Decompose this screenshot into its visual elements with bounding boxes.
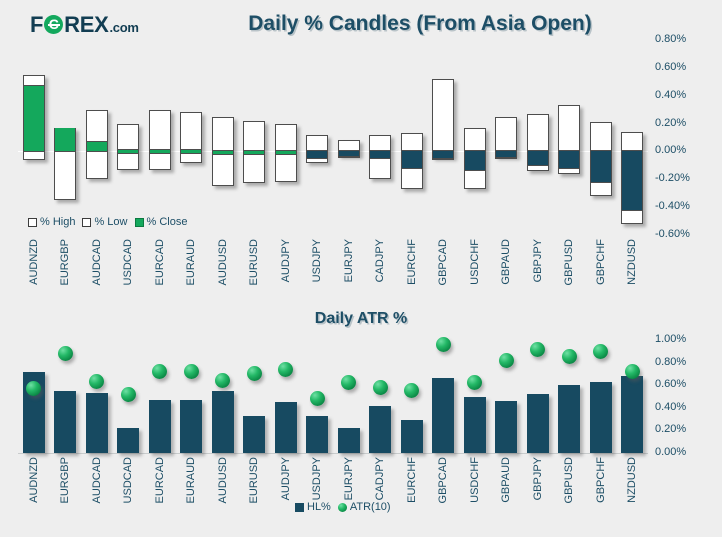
atr-10-marker[interactable]: [436, 337, 451, 352]
atr-10-marker[interactable]: [121, 387, 136, 402]
legend-item[interactable]: % Close: [135, 216, 188, 228]
candle-bar[interactable]: [149, 110, 171, 170]
legend-item[interactable]: ATR(10): [338, 501, 391, 513]
legend-label: ATR(10): [350, 501, 391, 513]
y-tick-label: 0.00%: [655, 144, 686, 156]
atr-hl-bar[interactable]: [527, 394, 549, 453]
x-tick-label: EURAUD: [185, 457, 197, 503]
x-tick-label: CADJPY: [374, 457, 386, 500]
x-tick-label: AUDJPY: [280, 457, 292, 500]
atr-legend: HL%ATR(10): [295, 501, 391, 513]
candle-high-segment: [621, 132, 643, 152]
x-tick-label: USDJPY: [311, 239, 323, 282]
zero-line: [18, 151, 648, 152]
x-tick-label: USDCHF: [469, 239, 481, 285]
y-tick-label: 0.20%: [655, 423, 686, 435]
candle-bar[interactable]: [306, 135, 328, 163]
x-tick-label: GBPUSD: [563, 239, 575, 285]
x-tick-label: NZDUSD: [626, 239, 638, 285]
candle-bar[interactable]: [243, 121, 265, 184]
x-tick-label: AUDNZD: [28, 239, 40, 285]
atr-plot-area: [18, 340, 648, 453]
legend-item[interactable]: HL%: [295, 501, 331, 513]
x-tick-label: GBPJPY: [532, 239, 544, 282]
candle-bar[interactable]: [369, 135, 391, 180]
atr-hl-bar[interactable]: [212, 391, 234, 453]
page-title: Daily % Candles (From Asia Open): [205, 12, 635, 36]
y-tick-label: -0.20%: [655, 172, 690, 184]
candle-low-segment: [369, 158, 391, 179]
candle-high-segment: [464, 128, 486, 152]
legend-label: % Close: [147, 216, 188, 228]
candle-high-segment: [590, 122, 612, 151]
x-tick-label: AUDJPY: [280, 239, 292, 282]
atr-10-marker[interactable]: [184, 364, 199, 379]
candle-close-segment: [369, 151, 391, 158]
atr-hl-bar[interactable]: [86, 393, 108, 453]
candle-bar[interactable]: [527, 114, 549, 171]
candle-high-segment: [243, 121, 265, 152]
x-tick-label: GBPCHF: [595, 239, 607, 285]
x-tick-label: USDJPY: [311, 457, 323, 500]
candle-low-segment: [306, 158, 328, 162]
page-header: F REX .com Daily % Candles (From Asia Op…: [0, 0, 722, 44]
candles-legend: % High% Low% Close: [28, 216, 187, 228]
forex-com-logo: F REX .com: [30, 12, 139, 38]
candle-close-segment: [527, 151, 549, 165]
candle-bar[interactable]: [275, 124, 297, 183]
candles-x-axis: AUDNZDEURGBPAUDCADUSDCADEURCADEURAUDAUDU…: [18, 236, 648, 304]
candle-low-segment: [243, 154, 265, 183]
atr-10-marker[interactable]: [562, 349, 577, 364]
candle-high-segment: [275, 124, 297, 152]
logo-text-prefix: F: [30, 12, 43, 38]
candle-close-segment: [590, 151, 612, 182]
candle-close-segment: [86, 142, 108, 152]
x-tick-label: GBPAUD: [500, 457, 512, 503]
candle-low-segment: [401, 168, 423, 189]
atr-hl-bar[interactable]: [432, 378, 454, 453]
candle-high-segment: [338, 140, 360, 151]
atr-10-marker[interactable]: [310, 391, 325, 406]
candle-low-segment: [275, 154, 297, 182]
x-tick-label: GBPJPY: [532, 457, 544, 500]
atr-hl-bar[interactable]: [495, 401, 517, 453]
y-tick-label: -0.40%: [655, 200, 690, 212]
x-tick-label: EURJPY: [343, 457, 355, 500]
candle-bar[interactable]: [464, 128, 486, 189]
x-tick-label: EURJPY: [343, 239, 355, 282]
candle-close-segment: [306, 151, 328, 158]
candle-high-segment: [117, 124, 139, 150]
y-tick-label: -0.60%: [655, 228, 690, 240]
legend-swatch-icon: [135, 218, 144, 227]
atr-chart-title: Daily ATR %: [0, 310, 722, 328]
candle-bar[interactable]: [495, 117, 517, 157]
y-tick-label: 0.60%: [655, 61, 686, 73]
x-tick-label: USDCHF: [469, 457, 481, 503]
atr-hl-bar[interactable]: [401, 420, 423, 453]
legend-item[interactable]: % Low: [82, 216, 127, 228]
candle-bar[interactable]: [432, 79, 454, 158]
candle-high-segment: [432, 79, 454, 151]
candle-low-segment: [621, 210, 643, 224]
x-tick-label: NZDUSD: [626, 457, 638, 503]
x-tick-label: GBPAUD: [500, 239, 512, 285]
x-tick-label: EURCHF: [406, 457, 418, 503]
candle-high-segment: [212, 117, 234, 152]
candle-low-segment: [495, 157, 517, 159]
candle-bar[interactable]: [338, 140, 360, 155]
x-tick-label: GBPUSD: [563, 457, 575, 503]
candle-bar[interactable]: [558, 105, 580, 173]
x-tick-label: AUDUSD: [217, 239, 229, 285]
y-tick-label: 0.80%: [655, 356, 686, 368]
x-tick-label: AUDUSD: [217, 457, 229, 503]
legend-swatch-icon: [82, 218, 91, 227]
atr-10-marker[interactable]: [373, 380, 388, 395]
candle-bar[interactable]: [23, 75, 45, 160]
candle-bar[interactable]: [54, 128, 76, 200]
atr-hl-bar[interactable]: [464, 397, 486, 454]
atr-hl-bar[interactable]: [117, 428, 139, 453]
candle-high-segment: [401, 133, 423, 151]
x-tick-label: EURGBP: [59, 457, 71, 503]
atr-hl-bar[interactable]: [149, 400, 171, 453]
legend-label: % Low: [94, 216, 127, 228]
atr-10-marker[interactable]: [341, 375, 356, 390]
x-tick-label: EURUSD: [248, 239, 260, 285]
atr-hl-bar[interactable]: [306, 416, 328, 453]
atr-10-marker[interactable]: [278, 362, 293, 377]
candle-high-segment: [306, 135, 328, 152]
logo-tld: .com: [109, 20, 138, 35]
legend-item[interactable]: % High: [28, 216, 75, 228]
atr-10-marker[interactable]: [404, 383, 419, 398]
daily-percent-candles-chart: 0.80%0.60%0.40%0.20%0.00%-0.20%-0.40%-0.…: [0, 40, 722, 305]
candle-low-segment: [117, 153, 139, 170]
legend-label: % High: [40, 216, 75, 228]
candle-high-segment: [180, 112, 202, 150]
x-tick-label: EURUSD: [248, 457, 260, 503]
y-tick-label: 0.80%: [655, 33, 686, 45]
atr-hl-bar[interactable]: [338, 428, 360, 453]
y-tick-label: 0.40%: [655, 89, 686, 101]
candle-low-segment: [86, 151, 108, 179]
x-tick-label: USDCAD: [122, 239, 134, 285]
candle-high-segment: [86, 110, 108, 142]
x-tick-label: USDCAD: [122, 457, 134, 503]
x-tick-label: EURCAD: [154, 457, 166, 503]
x-tick-label: EURAUD: [185, 239, 197, 285]
candle-close-segment: [54, 128, 76, 152]
atr-hl-bar[interactable]: [54, 391, 76, 453]
logo-text-suffix: REX: [64, 12, 108, 38]
candle-close-segment: [401, 151, 423, 168]
atr-hl-bar[interactable]: [369, 406, 391, 453]
candle-low-segment: [527, 165, 549, 171]
candle-bar[interactable]: [401, 133, 423, 189]
x-tick-label: EURCAD: [154, 239, 166, 285]
candles-plot-area: [18, 40, 648, 235]
atr-10-marker[interactable]: [530, 342, 545, 357]
daily-atr-chart: Daily ATR % 1.00%0.80%0.60%0.40%0.20%0.0…: [0, 305, 722, 537]
candle-low-segment: [180, 153, 202, 163]
candle-bar[interactable]: [212, 117, 234, 187]
candle-close-segment: [621, 151, 643, 210]
atr-hl-bar[interactable]: [590, 382, 612, 453]
atr-10-marker[interactable]: [499, 353, 514, 368]
atr-10-marker[interactable]: [593, 344, 608, 359]
candle-high-segment: [23, 75, 45, 86]
candle-low-segment: [558, 168, 580, 174]
candle-high-segment: [558, 105, 580, 151]
y-tick-label: 0.60%: [655, 378, 686, 390]
candle-close-segment: [432, 151, 454, 158]
y-tick-label: 0.00%: [655, 446, 686, 458]
candle-close-segment: [464, 151, 486, 169]
candle-bar[interactable]: [117, 124, 139, 170]
candle-high-segment: [149, 110, 171, 150]
x-tick-label: GBPCAD: [437, 239, 449, 285]
candle-low-segment: [149, 153, 171, 170]
candle-high-segment: [495, 117, 517, 152]
x-tick-label: EURGBP: [59, 239, 71, 285]
y-tick-label: 0.20%: [655, 117, 686, 129]
legend-swatch-icon: [295, 503, 304, 512]
candle-low-segment: [432, 158, 454, 160]
atr-hl-bar[interactable]: [275, 402, 297, 453]
candle-low-segment: [464, 170, 486, 190]
atr-10-marker[interactable]: [247, 366, 262, 381]
atr-y-axis: 1.00%0.80%0.60%0.40%0.20%0.00%: [655, 340, 715, 453]
candles-y-axis: 0.80%0.60%0.40%0.20%0.00%-0.20%-0.40%-0.…: [655, 40, 715, 235]
candle-low-segment: [54, 151, 76, 200]
x-tick-label: AUDNZD: [28, 457, 40, 503]
x-tick-label: AUDCAD: [91, 239, 103, 285]
atr-10-marker[interactable]: [215, 373, 230, 388]
candle-low-segment: [338, 156, 360, 158]
legend-swatch-icon: [338, 503, 347, 512]
atr-hl-bar[interactable]: [621, 376, 643, 453]
candle-high-segment: [527, 114, 549, 152]
candle-bar[interactable]: [621, 132, 643, 224]
atr-10-marker[interactable]: [58, 346, 73, 361]
candle-low-segment: [590, 182, 612, 196]
candle-bar[interactable]: [86, 110, 108, 180]
legend-swatch-icon: [28, 218, 37, 227]
x-tick-label: CADJPY: [374, 239, 386, 282]
candle-close-segment: [23, 86, 45, 151]
candle-low-segment: [23, 151, 45, 159]
x-tick-label: EURCHF: [406, 239, 418, 285]
candle-low-segment: [212, 154, 234, 186]
atr-hl-bar[interactable]: [180, 400, 202, 453]
candle-close-segment: [558, 151, 580, 168]
atr-10-marker[interactable]: [89, 374, 104, 389]
x-tick-label: AUDCAD: [91, 457, 103, 503]
candle-high-segment: [369, 135, 391, 152]
candle-bar[interactable]: [180, 112, 202, 162]
x-tick-label: GBPCAD: [437, 457, 449, 503]
atr-10-marker[interactable]: [467, 375, 482, 390]
atr-10-marker[interactable]: [625, 364, 640, 379]
y-tick-label: 0.40%: [655, 401, 686, 413]
euro-symbol-icon: [44, 15, 63, 34]
candle-bar[interactable]: [590, 122, 612, 196]
atr-10-marker[interactable]: [152, 364, 167, 379]
y-tick-label: 1.00%: [655, 333, 686, 345]
atr-hl-bar[interactable]: [243, 416, 265, 453]
atr-hl-bar[interactable]: [558, 385, 580, 453]
x-tick-label: GBPCHF: [595, 457, 607, 503]
legend-label: HL%: [307, 501, 331, 513]
